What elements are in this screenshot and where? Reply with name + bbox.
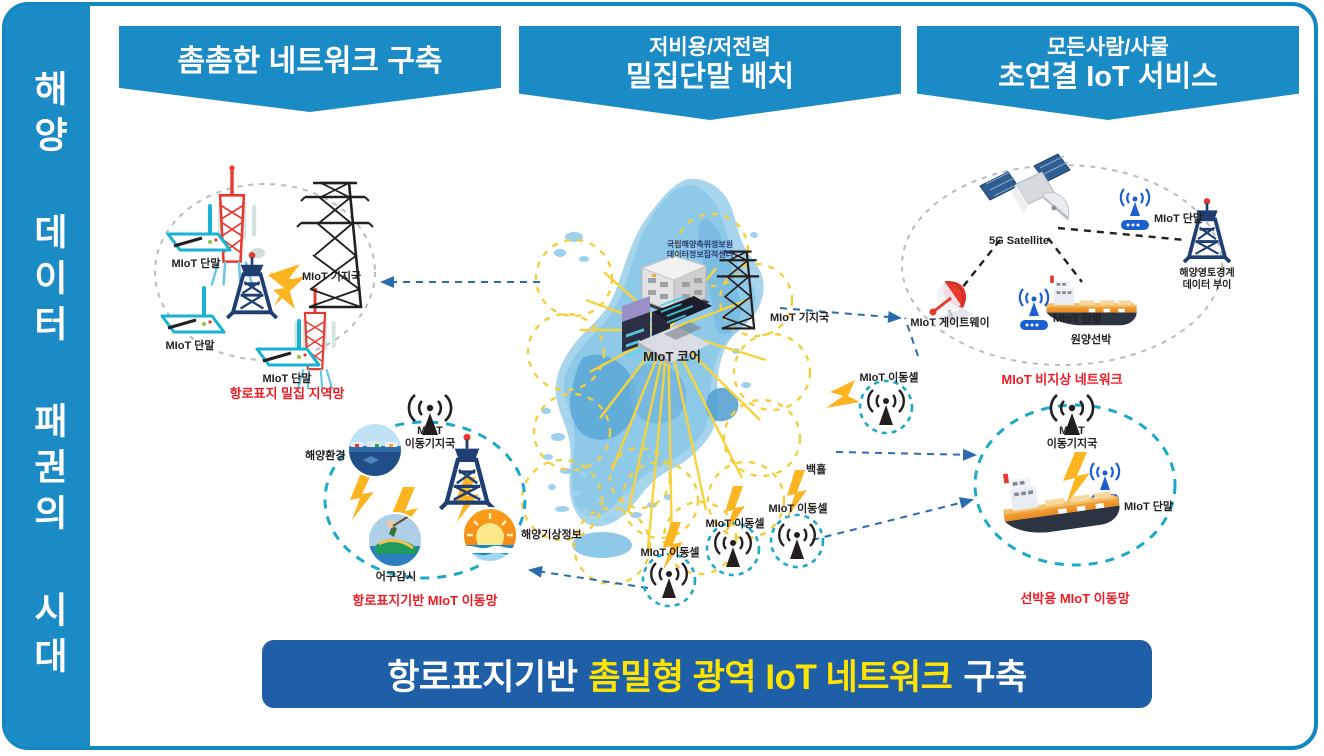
label-marine-weather: 해양기상정보 <box>521 529 582 542</box>
label-terminal-tl-1: MIoT 단말 <box>172 258 221 271</box>
label-mobile-base-bl: MIoT 이동기지국 <box>405 425 456 451</box>
transmission-pylon-icon <box>297 183 373 307</box>
label-mobile-cell-1: MIoT 이동셀 <box>859 372 918 385</box>
label-fishing-gear: 어구감시 <box>376 571 416 584</box>
marine-environment-photo-icon <box>348 423 402 477</box>
miot-terminal-router-icon-3 <box>257 321 319 365</box>
mobile-cell-antenna-icon-2 <box>779 524 815 559</box>
label-terminal-tr-buoy: MIoT 단말 <box>1154 213 1203 226</box>
center-pylon-icon <box>717 252 759 329</box>
label-backhaul: 백홀 <box>806 464 826 477</box>
label-terminal-tl-3: MIoT 단말 <box>263 373 312 386</box>
mobile-cell-antenna-icon-4 <box>651 563 687 598</box>
label-base-station-tl: MIoT 기지국 <box>302 271 361 284</box>
label-data-buoy: 해양영토경계 데이터 부이 <box>1179 268 1234 292</box>
label-mobile-cell-3: MIoT 이동셀 <box>705 518 764 531</box>
miot-terminal-badge-icon-1 <box>1121 189 1149 230</box>
label-cluster-title-top-right: MIoT 비지상 네트워크 <box>1001 372 1122 388</box>
label-mobile-base-br: MIoT 이동기지국 <box>1047 425 1098 451</box>
label-miot-core: MIoT 코어 <box>643 349 701 365</box>
diagram-icon-layer <box>0 0 1324 756</box>
mobile-cell-antenna-icon-1 <box>868 390 904 425</box>
data-buoy-tower-icon <box>1184 198 1230 262</box>
label-mobile-cell-2: MIoT 이동셀 <box>768 503 827 516</box>
label-mobile-cell-4: MIoT 이동셀 <box>640 547 699 560</box>
label-marine-environment: 해양환경 <box>305 450 345 463</box>
label-miot-gateway: MIoT 게이트웨이 <box>910 317 989 330</box>
ocean-vessel-icon-2 <box>998 459 1121 538</box>
label-cluster-title-bottom-right: 선박용 MIoT 이동망 <box>1020 591 1129 607</box>
label-cluster-title-bottom-left: 항로표지기반 MIoT 이동망 <box>352 593 497 609</box>
fishing-gear-monitor-photo-icon <box>368 513 422 567</box>
marine-weather-photo-icon <box>463 508 517 562</box>
5g-satellite-icon <box>980 154 1070 220</box>
label-ocean-vessel: 원양선박 <box>1071 334 1111 347</box>
miot-terminal-router-icon-2 <box>162 288 224 332</box>
label-terminal-br: MIoT 단말 <box>1124 501 1173 514</box>
mobile-cell-antenna-icon-3 <box>715 532 751 567</box>
label-terminal-tl-2: MIoT 단말 <box>166 340 215 353</box>
label-5g-satellite: 5G Satellite <box>989 235 1049 248</box>
miot-terminal-badge-icon-2 <box>1020 289 1048 330</box>
label-base-station-center: MIoT 기지국 <box>770 312 829 325</box>
label-terminal-tr-ship: MIoT 단말 <box>1053 313 1102 326</box>
infographic-root: 해양 데이터 패권의 시대 촘촘한 네트워크 구축 저비용/저전력 밀집단말 배… <box>0 0 1324 756</box>
label-data-center: 국립해양측위정보원 데이터정보집적센터 <box>667 240 733 259</box>
label-cluster-title-top-left: 항로표지 밀집 지역망 <box>230 386 345 402</box>
